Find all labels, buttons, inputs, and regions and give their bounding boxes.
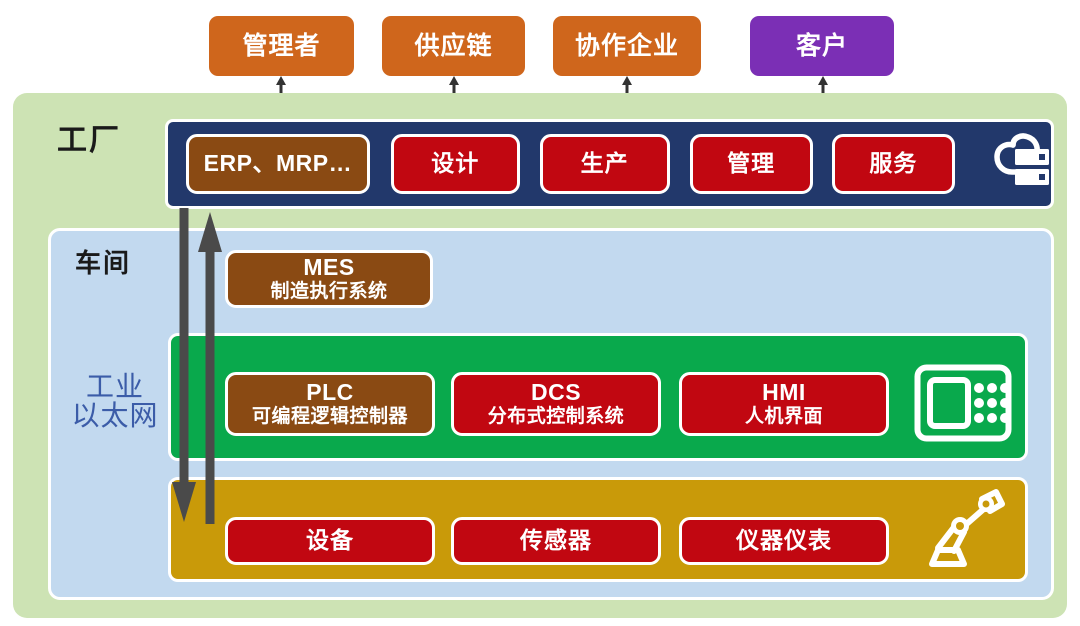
enterprise-item-label: 生产: [581, 151, 629, 177]
enterprise-item-erp[interactable]: ERP、MRP…: [186, 134, 370, 194]
factory-zone-label: 工厂: [57, 125, 121, 157]
control-item-line2: 人机界面: [745, 406, 823, 427]
enterprise-item-production[interactable]: 生产: [540, 134, 670, 194]
field-item-equipment[interactable]: 设备: [225, 517, 435, 565]
stakeholder-box-partner-enterprise[interactable]: 协作企业: [553, 16, 701, 76]
enterprise-item-label: ERP、MRP…: [204, 151, 352, 177]
industrial-ethernet-label-line2: 以太网: [60, 401, 170, 430]
stakeholder-box-supply-chain[interactable]: 供应链: [382, 16, 525, 76]
robot-arm-icon: [920, 488, 1006, 570]
control-item-plc[interactable]: PLC 可编程逻辑控制器: [225, 372, 435, 436]
cloud-server-icon: [979, 133, 1051, 195]
stakeholder-label: 协作企业: [575, 34, 679, 59]
enterprise-item-label: 设计: [431, 151, 479, 177]
stakeholder-box-customer[interactable]: 客户: [750, 16, 894, 76]
mes-box-line1: MES: [303, 255, 354, 281]
field-item-label: 设备: [306, 528, 354, 554]
enterprise-item-label: 管理: [727, 151, 775, 177]
stakeholder-label: 管理者: [242, 34, 320, 59]
enterprise-item-label: 服务: [869, 151, 917, 177]
enterprise-item-design[interactable]: 设计: [391, 134, 520, 194]
control-item-line2: 可编程逻辑控制器: [252, 406, 408, 427]
up-arrow: [198, 212, 222, 524]
control-item-line1: DCS: [531, 380, 581, 406]
mes-box-line2: 制造执行系统: [270, 281, 387, 302]
control-item-line1: HMI: [762, 380, 806, 406]
down-arrow: [172, 208, 196, 522]
control-item-dcs[interactable]: DCS 分布式控制系统: [451, 372, 661, 436]
stakeholder-label: 供应链: [414, 34, 492, 59]
enterprise-layer-bar: ERP、MRP… 设计 生产 管理 服务: [165, 119, 1054, 209]
stakeholder-box-manager[interactable]: 管理者: [209, 16, 354, 76]
field-item-sensor[interactable]: 传感器: [451, 517, 661, 565]
workshop-zone-label: 车间: [75, 250, 131, 277]
enterprise-item-management[interactable]: 管理: [690, 134, 813, 194]
mes-box[interactable]: MES 制造执行系统: [225, 250, 433, 308]
field-item-instrument[interactable]: 仪器仪表: [679, 517, 889, 565]
stakeholder-label: 客户: [796, 34, 848, 59]
control-item-line1: PLC: [306, 380, 354, 406]
industrial-ethernet-label-line1: 工业: [60, 372, 170, 401]
control-item-line2: 分布式控制系统: [488, 406, 625, 427]
hmi-panel-icon: [914, 364, 1012, 442]
control-item-hmi[interactable]: HMI 人机界面: [679, 372, 889, 436]
field-item-label: 仪器仪表: [736, 528, 832, 554]
industrial-ethernet-label: 工业 以太网: [60, 372, 170, 431]
field-item-label: 传感器: [520, 528, 592, 554]
industrial-ethernet-arrows: [172, 208, 222, 528]
enterprise-item-service[interactable]: 服务: [832, 134, 955, 194]
